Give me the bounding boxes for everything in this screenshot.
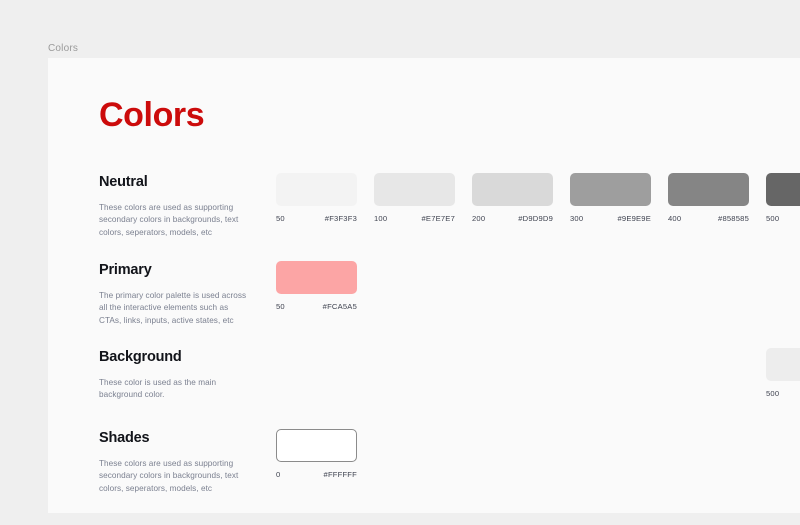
swatch-hex-label: #FCA5A5 <box>323 302 357 312</box>
color-swatch[interactable]: 50#FCA5A5 <box>276 261 357 312</box>
section-title: Primary <box>99 261 251 279</box>
section-description: The primary color palette is used across… <box>99 290 251 327</box>
swatch-chip[interactable] <box>374 173 455 206</box>
swatch-row: 0#FFFFFF <box>276 429 357 480</box>
section-info: NeutralThese colors are used as supporti… <box>99 173 251 239</box>
section-info: PrimaryThe primary color palette is used… <box>99 261 251 327</box>
page-title: Colors <box>99 95 204 135</box>
section-description: These color is used as the main backgrou… <box>99 377 251 402</box>
swatch-hex-label: #E7E7E7 <box>422 214 456 224</box>
swatch-hex-label: #FFFFFF <box>324 470 357 480</box>
swatch-step-label: 300 <box>570 214 583 224</box>
swatch-hex-label: #F3F3F3 <box>325 214 357 224</box>
section-info: BackgroundThese color is used as the mai… <box>99 348 251 402</box>
swatch-hex-label: #858585 <box>718 214 749 224</box>
section-title: Shades <box>99 429 251 447</box>
artboard-canvas: Colors NeutralThese colors are used as s… <box>48 58 800 513</box>
swatch-labels: 50#FCA5A5 <box>276 302 357 312</box>
swatch-step-label: 100 <box>374 214 387 224</box>
swatch-chip[interactable] <box>766 173 800 206</box>
color-swatch[interactable]: 100#E7E7E7 <box>374 173 455 224</box>
swatch-row: 50#F3F3F3100#E7E7E7200#D9D9D9300#9E9E9E4… <box>276 173 800 224</box>
color-swatch[interactable]: 50#F3F3F3 <box>276 173 357 224</box>
swatch-labels: 500#EDEDED <box>766 389 800 399</box>
swatch-hex-label: #9E9E9E <box>618 214 652 224</box>
swatch-step-label: 200 <box>472 214 485 224</box>
swatch-chip[interactable] <box>276 173 357 206</box>
swatch-step-label: 500 <box>766 214 779 224</box>
swatch-labels: 300#9E9E9E <box>570 214 651 224</box>
swatch-chip[interactable] <box>570 173 651 206</box>
swatch-chip[interactable] <box>276 429 357 462</box>
section-description: These colors are used as supporting seco… <box>99 202 251 239</box>
swatch-labels: 400#858585 <box>668 214 749 224</box>
swatch-step-label: 500 <box>766 389 779 399</box>
section-info: ShadesThese colors are used as supportin… <box>99 429 251 495</box>
section-title: Background <box>99 348 251 366</box>
swatch-chip[interactable] <box>766 348 800 381</box>
color-swatch[interactable]: 500#EDEDED <box>766 348 800 399</box>
swatch-labels: 0#FFFFFF <box>276 470 357 480</box>
swatch-row: 50#FCA5A5500#CC0B0B <box>276 261 800 312</box>
swatch-step-label: 0 <box>276 470 280 480</box>
swatch-step-label: 50 <box>276 302 285 312</box>
swatch-labels: 500#666666 <box>766 214 800 224</box>
color-swatch[interactable]: 300#9E9E9E <box>570 173 651 224</box>
swatch-labels: 100#E7E7E7 <box>374 214 455 224</box>
color-swatch[interactable]: 500#666666 <box>766 173 800 224</box>
color-swatch[interactable]: 0#FFFFFF <box>276 429 357 480</box>
swatch-row: 500#EDEDED <box>276 348 800 399</box>
swatch-chip[interactable] <box>472 173 553 206</box>
swatch-labels: 50#F3F3F3 <box>276 214 357 224</box>
swatch-step-label: 400 <box>668 214 681 224</box>
swatch-hex-label: #D9D9D9 <box>518 214 553 224</box>
swatch-labels: 200#D9D9D9 <box>472 214 553 224</box>
section-title: Neutral <box>99 173 251 191</box>
swatch-chip[interactable] <box>668 173 749 206</box>
swatch-chip[interactable] <box>276 261 357 294</box>
swatch-step-label: 50 <box>276 214 285 224</box>
section-description: These colors are used as supporting seco… <box>99 458 251 495</box>
color-swatch[interactable]: 200#D9D9D9 <box>472 173 553 224</box>
color-swatch[interactable]: 400#858585 <box>668 173 749 224</box>
color-style-guide-page: Colors Colors NeutralThese colors are us… <box>0 0 800 525</box>
breadcrumb[interactable]: Colors <box>48 42 78 56</box>
